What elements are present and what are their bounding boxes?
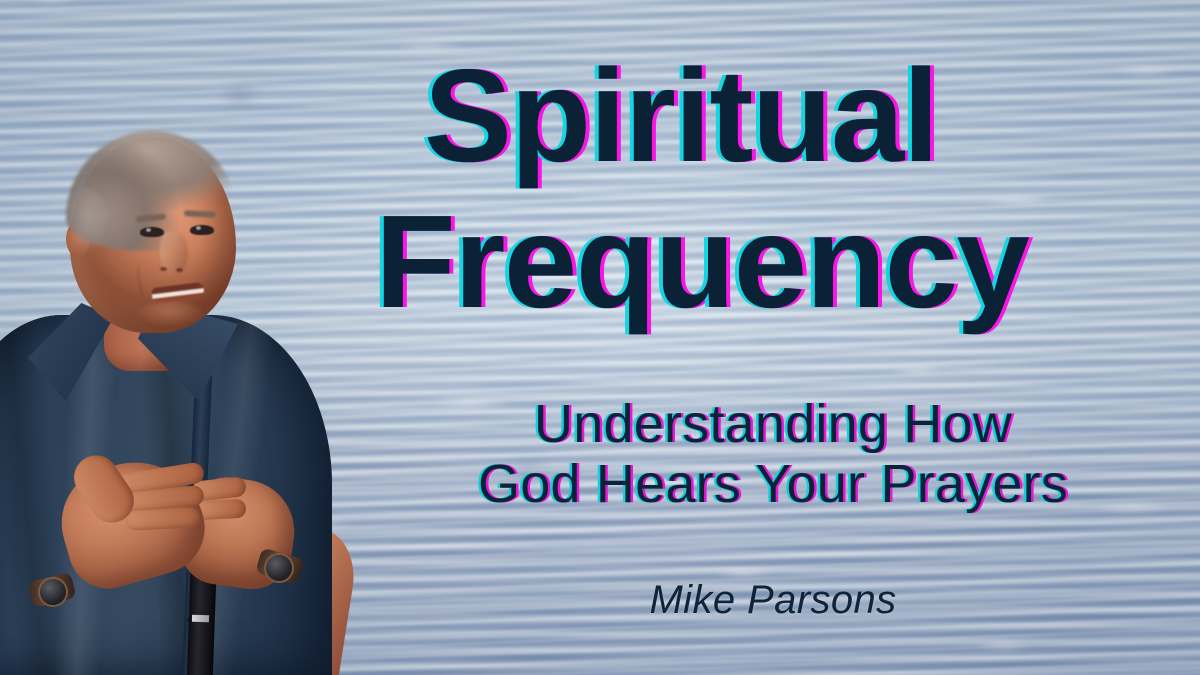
wristwatch-right-face [266,555,292,581]
subtitle-line-1: Understanding How [378,394,1168,454]
text-overlay: Spiritual Frequency Understanding How Go… [330,0,1200,675]
subtitle: Understanding How God Hears Your Prayers [378,394,1168,515]
title-line-2: Frequency [375,196,1028,328]
hair-side [60,187,108,257]
wristwatch-left-face [40,579,66,605]
eye-right [190,225,214,235]
nostril-left [160,267,167,271]
subtitle-line-2: God Hears Your Prayers [378,454,1168,514]
eye-highlight-right [196,226,201,230]
author-name: Mike Parsons [378,578,1168,623]
microphone-ring [192,615,209,623]
eye-highlight-left [146,228,151,232]
chin-highlight [132,301,208,335]
nostril-right [176,268,183,272]
title-line-1: Spiritual [424,50,938,182]
left-finger [126,507,201,531]
eye-left [140,227,164,237]
video-thumbnail: Spiritual Frequency Understanding How Go… [0,0,1200,675]
speaker-portrait [0,115,346,675]
